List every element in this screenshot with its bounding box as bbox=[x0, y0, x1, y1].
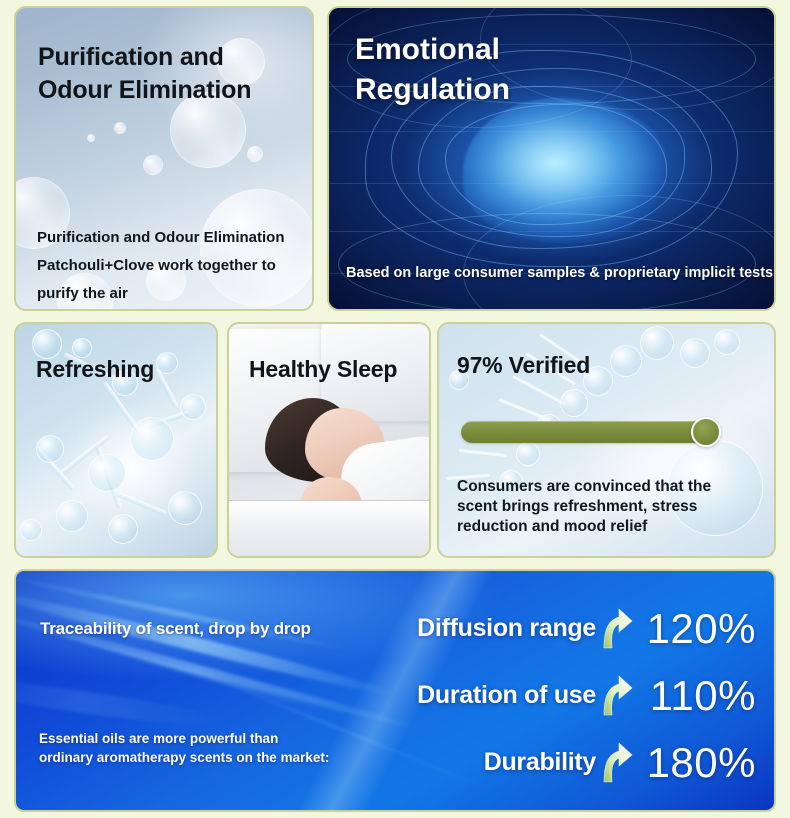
molecule-node-icon bbox=[56, 500, 88, 532]
verified-body-line2: scent brings refreshment, stress bbox=[457, 497, 711, 517]
stats-note: Essential oils are more powerful than or… bbox=[39, 729, 329, 767]
bubble-icon bbox=[247, 146, 263, 162]
stat-value: 120% bbox=[638, 607, 756, 651]
up-arrow-icon bbox=[600, 742, 634, 784]
dna-ball-icon bbox=[714, 329, 740, 355]
emotional-title: Emotional Regulation bbox=[355, 30, 510, 110]
stat-row: Diffusion range 120% bbox=[376, 595, 756, 662]
stat-row: Duration of use 110% bbox=[376, 662, 756, 729]
verified-body-line1: Consumers are convinced that the bbox=[457, 477, 711, 497]
stat-label: Duration of use bbox=[417, 681, 596, 710]
purification-body-line1: Purification and Odour Elimination bbox=[37, 224, 285, 252]
up-arrow-icon bbox=[600, 675, 634, 717]
purification-title-line1: Purification and bbox=[38, 41, 251, 74]
infographic-page: Purification and Odour Elimination Purif… bbox=[0, 0, 790, 818]
stat-label: Durability bbox=[484, 748, 596, 777]
up-arrow-icon bbox=[600, 608, 634, 650]
molecule-node-icon bbox=[88, 454, 126, 492]
molecule-node-icon bbox=[168, 491, 202, 525]
dna-ball-icon bbox=[680, 338, 710, 368]
verified-title: 97% Verified bbox=[457, 352, 590, 379]
card-refreshing: Refreshing bbox=[14, 322, 218, 558]
purification-body-line3: purify the air bbox=[37, 280, 285, 308]
molecule-node-icon bbox=[20, 519, 42, 541]
purification-body: Purification and Odour Elimination Patch… bbox=[37, 224, 285, 308]
card-healthy-sleep: Healthy Sleep bbox=[227, 322, 431, 558]
dna-ball-icon bbox=[610, 345, 642, 377]
emotional-title-line1: Emotional bbox=[355, 30, 510, 70]
slider-thumb[interactable] bbox=[691, 417, 721, 447]
verification-progress-slider[interactable] bbox=[461, 421, 713, 443]
molecule-node-icon bbox=[180, 394, 206, 420]
molecule-node-icon bbox=[156, 352, 178, 374]
stat-value: 180% bbox=[638, 741, 756, 785]
stats-rows: Diffusion range 120% Duration of use bbox=[376, 595, 756, 796]
bubble-icon bbox=[143, 155, 163, 175]
verified-body: Consumers are convinced that the scent b… bbox=[457, 477, 711, 537]
stat-value: 110% bbox=[638, 674, 756, 718]
purification-title: Purification and Odour Elimination bbox=[38, 41, 251, 107]
molecule-node-icon bbox=[108, 514, 138, 544]
stat-label: Diffusion range bbox=[417, 614, 596, 643]
purification-title-line2: Odour Elimination bbox=[38, 74, 251, 107]
stats-lead-text: Traceability of scent, drop by drop bbox=[40, 619, 311, 639]
bubble-icon bbox=[87, 134, 95, 142]
card-purification: Purification and Odour Elimination Purif… bbox=[14, 6, 314, 311]
stats-note-line2: ordinary aromatherapy scents on the mark… bbox=[39, 748, 329, 767]
dna-ball-icon bbox=[640, 326, 674, 360]
molecule-node-icon bbox=[32, 329, 62, 359]
sleep-title: Healthy Sleep bbox=[249, 356, 397, 383]
card-verified: 97% Verified Consumers are convinced tha… bbox=[437, 322, 776, 558]
molecule-node-icon bbox=[130, 417, 174, 461]
dna-ball-icon bbox=[516, 442, 540, 466]
purification-body-line2: Patchouli+Clove work together to bbox=[37, 252, 285, 280]
stat-row: Durability 180% bbox=[376, 729, 756, 796]
card-stats-panel: Traceability of scent, drop by drop Esse… bbox=[14, 569, 776, 812]
dna-ball-icon bbox=[560, 389, 588, 417]
mattress bbox=[229, 500, 429, 556]
emotional-caption: Based on large consumer samples & propri… bbox=[346, 265, 773, 281]
bubble-icon bbox=[114, 122, 126, 134]
stats-note-line1: Essential oils are more powerful than bbox=[39, 729, 329, 748]
molecule-node-icon bbox=[36, 435, 64, 463]
molecule-node-icon bbox=[72, 338, 92, 358]
card-emotional-regulation: Emotional Regulation Based on large cons… bbox=[327, 6, 776, 311]
emotional-title-line2: Regulation bbox=[355, 70, 510, 110]
refreshing-title: Refreshing bbox=[36, 356, 154, 383]
verified-body-line3: reduction and mood relief bbox=[457, 517, 711, 537]
